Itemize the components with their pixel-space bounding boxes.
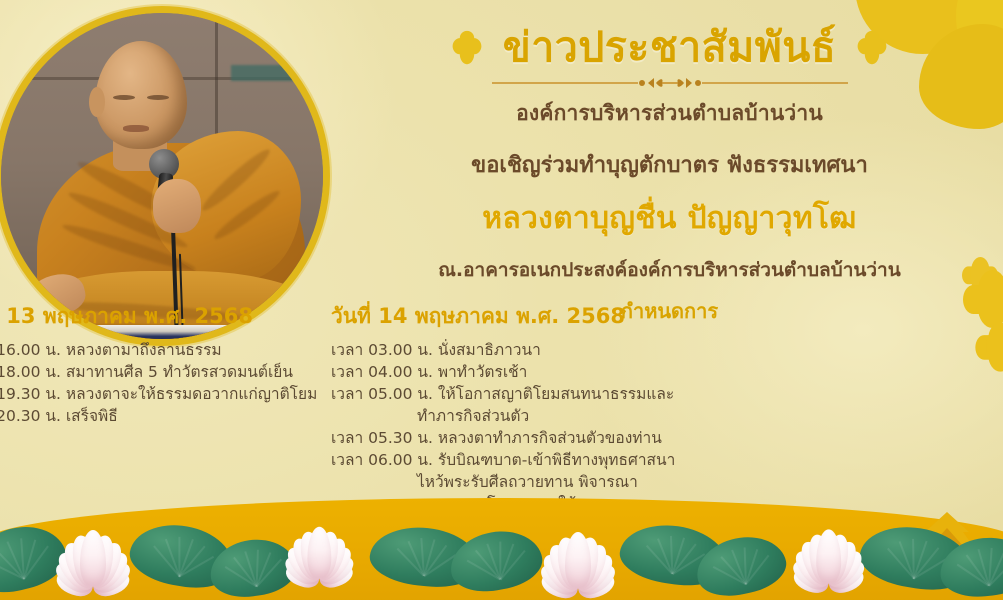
schedule-item: เวลา 05.30 น. หลวงตาทำภารกิจส่วนตัวของท่… [331, 427, 669, 449]
four-petal-flower-icon [854, 30, 890, 66]
schedule-item: เวลา 04.00 น. พาทำวัตรเช้า [331, 361, 669, 383]
invitation-text: ขอเชิญร่วมทำบุญตักบาตร ฟังธรรมเทศนา [336, 147, 1003, 182]
day-heading: วันที่ 14 พฤษภาคม พ.ศ. 2568 [331, 300, 669, 333]
lotus-flower [266, 506, 404, 600]
lotus-flower [773, 508, 917, 600]
schedule-item: เวลา 06.00 น. รับบิณฑบาต-เข้าพิธีทางพุทธ… [331, 449, 669, 471]
day-1-items: เวลา 16.00 น. หลวงตามาถึงลานธรรมเวลา 18.… [0, 339, 305, 427]
monk-hand-right [153, 179, 201, 233]
schedule-day-1: วันที่ 13 พฤษภาคม พ.ศ. 2568 เวลา 16.00 น… [0, 300, 305, 427]
lotus-flower [520, 510, 670, 600]
day-heading: วันที่ 13 พฤษภาคม พ.ศ. 2568 [0, 300, 305, 333]
lotus-decoration-band [0, 486, 1003, 600]
schedule-item: เวลา 19.30 น. หลวงตาจะให้ธรรมดอวากแก่ญาต… [0, 383, 305, 405]
schedule-section: วันที่ 13 พฤษภาคม พ.ศ. 2568 เวลา 16.00 น… [0, 300, 667, 515]
schedule-item: ทำภารกิจส่วนตัว [331, 405, 669, 427]
schedule-item: เวลา 20.30 น. เสร็จพิธี [0, 405, 305, 427]
monk-name: หลวงตาบุญชื่น ปัญญาวุทโฒ [336, 195, 1003, 242]
monk-portrait-photo [0, 6, 330, 346]
schedule-day-2: วันที่ 14 พฤษภาคม พ.ศ. 2568 เวลา 03.00 น… [317, 300, 669, 515]
schedule-item: เวลา 03.00 น. นั่งสมาธิภาวนา [331, 339, 669, 361]
lotus-flower [35, 508, 185, 600]
announcement-poster: ข่าวประชาสัมพันธ์ องค์การบริหารส่วนตำบลบ… [0, 0, 1003, 600]
four-petal-flower-icon [449, 30, 485, 66]
organization-name: องค์การบริหารส่วนตำบลบ้านว่าน [336, 97, 1003, 130]
venue-text: ณ.อาคารอเนกประสงค์องค์การบริหารส่วนตำบลบ… [336, 255, 1003, 285]
title-row: ข่าวประชาสัมพันธ์ [336, 26, 1003, 69]
schedule-item: เวลา 05.00 น. ให้โอกาสญาติโยมสนทนาธรรมแล… [331, 383, 669, 405]
schedule-item: เวลา 18.00 น. สมาทานศีล 5 ทำวัตรสวดมนต์เ… [0, 361, 305, 383]
page-title: ข่าวประชาสัมพันธ์ [503, 26, 837, 69]
schedule-item: เวลา 16.00 น. หลวงตามาถึงลานธรรม [0, 339, 305, 361]
ornamental-divider-icon [490, 75, 850, 89]
